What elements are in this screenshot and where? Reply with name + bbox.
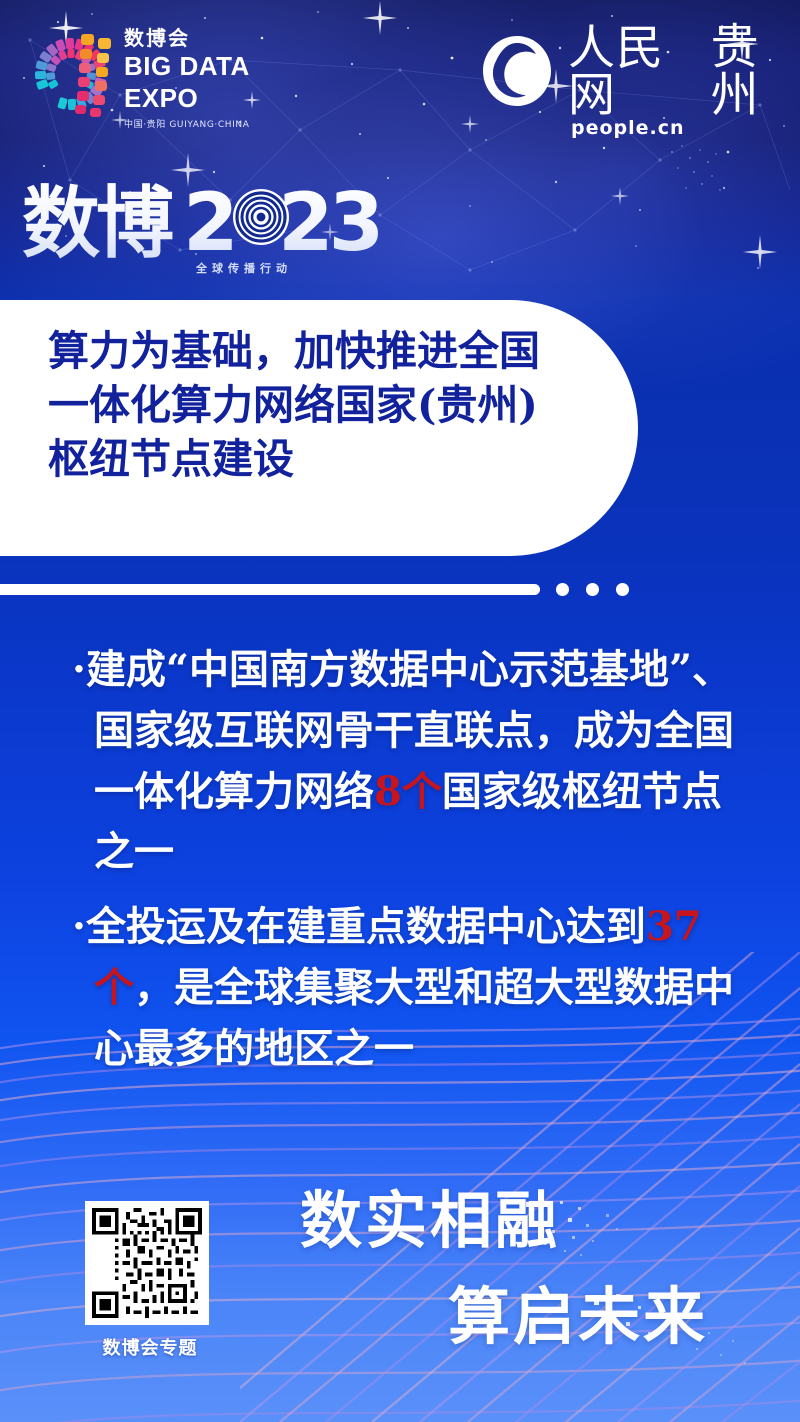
expo-location: 中国·贵阳 GUIYANG·CHINA — [124, 117, 250, 130]
people-cn-name: 人民网 — [568, 25, 697, 119]
expo-en-line1: BIG DATA — [124, 53, 250, 80]
bullet-highlight-number: 8个 — [374, 768, 442, 815]
list-item: ·建成“中国南方数据中心示范基地”、国家级互联网骨干直联点，成为全国一体化算力网… — [72, 640, 740, 883]
svg-text:2: 2 — [183, 176, 234, 269]
bullet-list: ·建成“中国南方数据中心示范基地”、国家级互联网骨干直联点，成为全国一体化算力网… — [72, 640, 740, 1080]
header: 数博会 BIG DATA EXPO 中国·贵阳 GUIYANG·CHINA 人民… — [0, 0, 800, 140]
divider-dot-1 — [556, 583, 569, 596]
shubo-2023-wordmark-graphic: 数博 2 23 全球传播行动 — [20, 176, 390, 280]
slogan-line-1: 数实相融 — [300, 1190, 560, 1252]
big-data-expo-logo[interactable]: 数博会 BIG DATA EXPO 中国·贵阳 GUIYANG·CHINA — [24, 24, 254, 120]
svg-text:23: 23 — [278, 176, 379, 269]
expo-en-line2: EXPO — [124, 85, 250, 112]
poster-root: 数博会 BIG DATA EXPO 中国·贵阳 GUIYANG·CHINA 人民… — [0, 0, 800, 1422]
svg-text:数博: 数博 — [22, 178, 173, 269]
page-title: 算力为基础，加快推进全国一体化算力网络国家(贵州)枢纽节点建设 — [48, 324, 578, 486]
title-card: 算力为基础，加快推进全国一体化算力网络国家(贵州)枢纽节点建设 — [0, 300, 638, 556]
people-cn-en-name: people.cn — [571, 117, 685, 139]
people-cn-province: 贵州 — [711, 23, 800, 119]
svg-text:全球传播行动: 全球传播行动 — [195, 261, 292, 275]
divider-bar — [0, 584, 540, 595]
bullet-text-part: 全投运及在建重点数据中心达到 — [86, 903, 646, 950]
bullet-marker: · — [72, 646, 86, 693]
bullet-text-part: ，是全球集聚大型和超大型数据中心最多的地区之一 — [94, 964, 734, 1072]
qr-label: 数博会专题 — [85, 1334, 215, 1360]
shubo-2023-wordmark: 数博 2 23 全球传播行动 — [20, 176, 390, 280]
people-cn-wordmark: 人民网 people.cn 贵州 — [568, 23, 800, 119]
people-cn-logo[interactable]: 人民网 people.cn 贵州 — [478, 28, 800, 114]
expo-logo-text: 数博会 BIG DATA EXPO 中国·贵阳 GUIYANG·CHINA — [124, 28, 250, 130]
big-data-expo-spiral-icon — [24, 26, 118, 118]
divider — [0, 582, 640, 598]
divider-dot-2 — [586, 583, 599, 596]
list-item: ·全投运及在建重点数据中心达到37个，是全球集聚大型和超大型数据中心最多的地区之… — [72, 897, 740, 1079]
qr-block[interactable]: 数博会专题 — [85, 1201, 215, 1360]
bullet-marker: · — [72, 903, 86, 950]
qr-code-icon[interactable] — [85, 1201, 209, 1325]
divider-dot-3 — [616, 583, 629, 596]
expo-cn-name: 数博会 — [124, 28, 250, 48]
qr-code-matrix — [92, 1208, 202, 1318]
slogan: 数实相融 算启未来 — [300, 1190, 770, 1370]
people-cn-globe-icon — [478, 32, 556, 110]
slogan-line-2: 算启未来 — [448, 1286, 708, 1348]
